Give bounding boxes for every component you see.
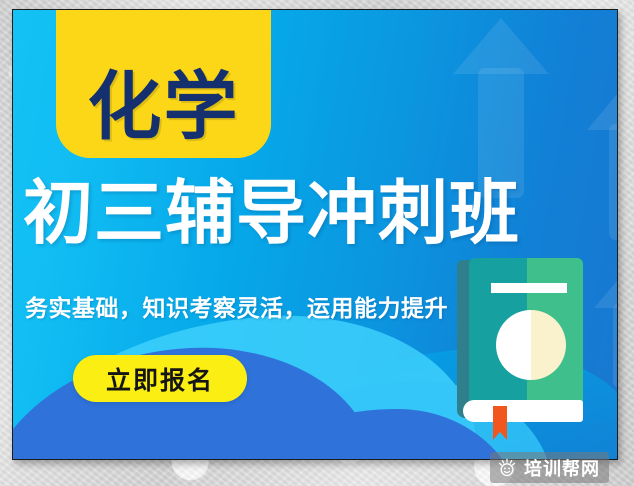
watermark: 培训帮网: [490, 452, 609, 483]
subject-badge: 化学: [56, 9, 271, 158]
book-illustration: [457, 258, 585, 428]
arrow-up-head: [594, 268, 618, 308]
book-circle-emblem: [496, 310, 566, 380]
course-promo-banner: 化学 初三辅导冲刺班 务实基础，知识考察灵活，运用能力提升 立即报名: [12, 9, 618, 460]
page-title: 初三辅导冲刺班: [23, 178, 603, 249]
subject-badge-label: 化学: [88, 70, 240, 144]
arrow-up-shaft: [609, 124, 618, 240]
arrow-up-head: [453, 18, 549, 74]
subtitle-text: 务实基础，知识考察灵活，运用能力提升: [25, 295, 448, 323]
arrow-up-head: [587, 80, 618, 130]
smiling-sun-face-icon: [497, 458, 517, 478]
enroll-now-button[interactable]: 立即报名: [73, 355, 247, 402]
book-title-bar: [491, 283, 567, 293]
arrow-up-shaft: [613, 303, 618, 388]
book-pages: [463, 400, 583, 422]
arrow-up-icon: [441, 18, 561, 198]
enroll-now-button-label: 立即报名: [106, 361, 214, 397]
watermark-label: 培训帮网: [524, 455, 600, 481]
